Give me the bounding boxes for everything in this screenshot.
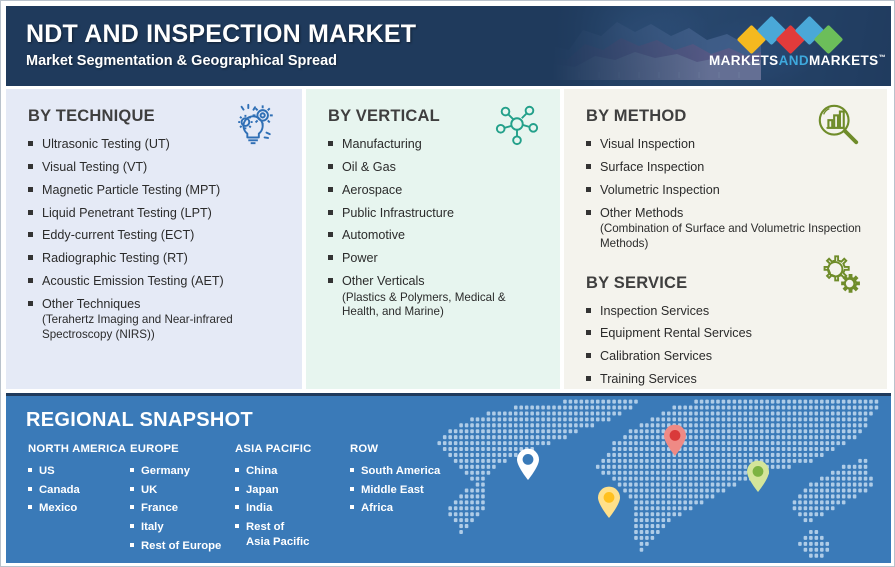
item-label: Automotive bbox=[342, 228, 405, 242]
item-label: Other Techniques bbox=[42, 297, 140, 311]
item-sublabel: (Plastics & Polymers, Medical & Health, … bbox=[342, 291, 544, 321]
list-item: South America bbox=[350, 464, 460, 479]
item-label: Volumetric Inspection bbox=[600, 183, 720, 197]
list-item: Equipment Rental Services bbox=[586, 325, 871, 341]
region-asia-pacific: ASIA PACIFIC China Japan India Rest of A… bbox=[235, 443, 350, 557]
bullet-icon bbox=[28, 301, 33, 306]
bullet-icon bbox=[350, 487, 354, 491]
bullet-icon bbox=[28, 487, 32, 491]
bullet-icon bbox=[28, 164, 33, 169]
list-item: Germany bbox=[130, 464, 235, 479]
list-item: US bbox=[28, 464, 130, 479]
item-label: Other Methods bbox=[600, 206, 683, 220]
region-country-list: China Japan India Rest of Asia Pacific bbox=[235, 464, 350, 549]
region-country-list: US Canada Mexico bbox=[28, 464, 130, 516]
bullet-icon bbox=[28, 141, 33, 146]
bullet-icon bbox=[328, 164, 333, 169]
item-label: Japan bbox=[246, 484, 279, 496]
list-item: India bbox=[235, 501, 350, 516]
list-item: Radiographic Testing (RT) bbox=[28, 250, 286, 266]
bullet-icon bbox=[328, 141, 333, 146]
bullet-icon bbox=[235, 487, 239, 491]
list-item: Magnetic Particle Testing (MPT) bbox=[28, 182, 286, 198]
item-label: Equipment Rental Services bbox=[600, 326, 752, 340]
bullet-icon bbox=[328, 187, 333, 192]
list-item: Other Verticals(Plastics & Polymers, Med… bbox=[328, 273, 544, 320]
brand-logo[interactable]: MARKETSANDMARKETS™ bbox=[709, 20, 869, 74]
list-item: Eddy-current Testing (ECT) bbox=[28, 227, 286, 243]
bullet-icon bbox=[328, 278, 333, 283]
list-item: Volumetric Inspection bbox=[586, 182, 871, 198]
bullet-icon bbox=[130, 468, 134, 472]
list-item: Aerospace bbox=[328, 182, 544, 198]
list-item: Africa bbox=[350, 501, 460, 516]
list-item: Calibration Services bbox=[586, 348, 871, 364]
bullet-icon bbox=[28, 210, 33, 215]
list-item: Automotive bbox=[328, 227, 544, 243]
list-item: Visual Testing (VT) bbox=[28, 159, 286, 175]
regional-snapshot-section: REGIONAL SNAPSHOT NORTH AMERICA US Canad… bbox=[6, 393, 891, 563]
item-label: Surface Inspection bbox=[600, 160, 704, 174]
bullet-icon bbox=[130, 487, 134, 491]
list-item: Mexico bbox=[28, 501, 130, 516]
section-divider bbox=[6, 393, 891, 396]
list-item: Japan bbox=[235, 483, 350, 498]
list-item: Inspection Services bbox=[586, 303, 871, 319]
item-label: Mexico bbox=[39, 502, 77, 514]
bullet-icon bbox=[130, 524, 134, 528]
item-label: Public Infrastructure bbox=[342, 206, 454, 220]
bullet-icon bbox=[586, 308, 591, 313]
item-label: Middle East bbox=[361, 484, 424, 496]
column-by-vertical: BY VERTICAL Manufacturing Oil & Gas Aero… bbox=[306, 89, 560, 389]
map-pin-africa[interactable] bbox=[596, 485, 622, 519]
list-by-service: Inspection Services Equipment Rental Ser… bbox=[586, 303, 871, 388]
item-label: Training Services bbox=[600, 372, 697, 386]
logo-trademark: ™ bbox=[879, 55, 886, 62]
item-label: UK bbox=[141, 484, 157, 496]
item-label: India bbox=[246, 502, 272, 514]
item-sublabel: (Combination of Surface and Volumetric I… bbox=[600, 222, 871, 252]
bullet-icon bbox=[586, 330, 591, 335]
regions-group: NORTH AMERICA US Canada Mexico EUROPE Ge… bbox=[28, 443, 460, 557]
bullet-icon bbox=[586, 376, 591, 381]
item-label: Other Verticals bbox=[342, 274, 425, 288]
item-label: Calibration Services bbox=[600, 349, 712, 363]
list-item: Rest of Asia Pacific bbox=[235, 520, 350, 549]
list-item: Manufacturing bbox=[328, 136, 544, 152]
item-label: South America bbox=[361, 465, 440, 477]
list-item: Italy bbox=[130, 520, 235, 535]
bullet-icon bbox=[328, 255, 333, 260]
item-label: Oil & Gas bbox=[342, 160, 396, 174]
header: NDT AND INSPECTION MARKET Market Segment… bbox=[6, 6, 891, 86]
bullet-icon bbox=[235, 468, 239, 472]
map-pin-layer bbox=[415, 399, 885, 559]
item-label: Manufacturing bbox=[342, 137, 422, 151]
bullet-icon bbox=[130, 505, 134, 509]
region-north-america: NORTH AMERICA US Canada Mexico bbox=[28, 443, 130, 557]
logo-word-and: AND bbox=[779, 53, 809, 68]
item-label: Visual Inspection bbox=[600, 137, 695, 151]
region-name: EUROPE bbox=[130, 443, 235, 455]
item-label: Radiographic Testing (RT) bbox=[42, 251, 188, 265]
bullet-icon bbox=[235, 524, 239, 528]
column-by-method-service: BY METHOD Visual Inspection Surface Insp… bbox=[564, 89, 887, 389]
list-item: Visual Inspection bbox=[586, 136, 871, 152]
header-title-group: NDT AND INSPECTION MARKET Market Segment… bbox=[26, 20, 416, 69]
region-name: NORTH AMERICA bbox=[28, 443, 130, 455]
list-item: Acoustic Emission Testing (AET) bbox=[28, 273, 286, 289]
list-item: UK bbox=[130, 483, 235, 498]
page-subtitle: Market Segmentation & Geographical Sprea… bbox=[26, 53, 416, 69]
item-label: Ultrasonic Testing (UT) bbox=[42, 137, 170, 151]
bullet-icon bbox=[586, 187, 591, 192]
list-item: Other Techniques(Terahertz Imaging and N… bbox=[28, 296, 286, 343]
list-item: China bbox=[235, 464, 350, 479]
bullet-icon bbox=[350, 468, 354, 472]
bullet-icon bbox=[586, 141, 591, 146]
item-label: Rest of Asia Pacific bbox=[246, 521, 309, 548]
list-item: Middle East bbox=[350, 483, 460, 498]
item-label: Acoustic Emission Testing (AET) bbox=[42, 274, 224, 288]
gears-icon bbox=[817, 251, 863, 297]
region-name: ASIA PACIFIC bbox=[235, 443, 350, 455]
list-item: France bbox=[130, 501, 235, 516]
item-label: Inspection Services bbox=[600, 304, 709, 318]
bullet-icon bbox=[130, 543, 134, 547]
list-item: Power bbox=[328, 250, 544, 266]
region-row: ROW South America Middle East Africa bbox=[350, 443, 460, 557]
bullet-icon bbox=[28, 232, 33, 237]
bullet-icon bbox=[586, 210, 591, 215]
bullet-icon bbox=[586, 164, 591, 169]
bullet-icon bbox=[328, 210, 333, 215]
list-item: Surface Inspection bbox=[586, 159, 871, 175]
list-item: Other Methods(Combination of Surface and… bbox=[586, 205, 871, 252]
item-sublabel: (Terahertz Imaging and Near-infrared Spe… bbox=[42, 313, 286, 343]
logo-diamonds bbox=[723, 20, 855, 50]
logo-wordmark: MARKETSANDMARKETS™ bbox=[709, 53, 869, 68]
list-item: Ultrasonic Testing (UT) bbox=[28, 136, 286, 152]
item-label: Magnetic Particle Testing (MPT) bbox=[42, 183, 220, 197]
logo-word-markets-2: MARKETS bbox=[809, 53, 879, 68]
list-by-method: Visual Inspection Surface Inspection Vol… bbox=[586, 136, 871, 252]
item-label: US bbox=[39, 465, 55, 477]
item-label: Eddy-current Testing (ECT) bbox=[42, 228, 194, 242]
map-pin-europe[interactable] bbox=[662, 423, 688, 457]
bullet-icon bbox=[28, 505, 32, 509]
item-label: Visual Testing (VT) bbox=[42, 160, 147, 174]
item-label: France bbox=[141, 502, 178, 514]
list-by-vertical: Manufacturing Oil & Gas Aerospace Public… bbox=[328, 136, 544, 320]
item-label: Africa bbox=[361, 502, 393, 514]
list-item: Public Infrastructure bbox=[328, 205, 544, 221]
item-label: Power bbox=[342, 251, 378, 265]
list-item: Oil & Gas bbox=[328, 159, 544, 175]
bullet-icon bbox=[350, 505, 354, 509]
bullet-icon bbox=[28, 187, 33, 192]
bullet-icon bbox=[28, 255, 33, 260]
item-label: Liquid Penetrant Testing (LPT) bbox=[42, 206, 212, 220]
item-label: China bbox=[246, 465, 277, 477]
item-label: Canada bbox=[39, 484, 80, 496]
list-item: Training Services bbox=[586, 371, 871, 387]
list-item: Canada bbox=[28, 483, 130, 498]
logo-word-markets-1: MARKETS bbox=[709, 53, 779, 68]
map-pin-asia-pacific[interactable] bbox=[745, 459, 771, 493]
region-name: ROW bbox=[350, 443, 460, 455]
infographic-root: NDT AND INSPECTION MARKET Market Segment… bbox=[0, 0, 895, 567]
column-by-technique: BY TECHNIQUE Ultrasonic Testing (UT) bbox=[6, 89, 302, 389]
item-label: Germany bbox=[141, 465, 190, 477]
bullet-icon bbox=[235, 505, 239, 509]
bullet-icon bbox=[28, 278, 33, 283]
region-country-list: Germany UK France Italy Rest of Europe bbox=[130, 464, 235, 553]
region-country-list: South America Middle East Africa bbox=[350, 464, 460, 516]
list-item: Rest of Europe bbox=[130, 539, 235, 554]
segmentation-columns: BY TECHNIQUE Ultrasonic Testing (UT) bbox=[6, 89, 891, 389]
item-label: Rest of Europe bbox=[141, 540, 221, 552]
region-europe: EUROPE Germany UK France Italy Rest of E… bbox=[130, 443, 235, 557]
page-title: NDT AND INSPECTION MARKET bbox=[26, 20, 416, 48]
bullet-icon bbox=[28, 468, 32, 472]
list-by-technique: Ultrasonic Testing (UT) Visual Testing (… bbox=[28, 136, 286, 343]
map-pin-north-america[interactable] bbox=[515, 447, 541, 481]
list-item: Liquid Penetrant Testing (LPT) bbox=[28, 205, 286, 221]
bullet-icon bbox=[586, 353, 591, 358]
regional-snapshot-title: REGIONAL SNAPSHOT bbox=[26, 409, 253, 432]
item-label: Italy bbox=[141, 521, 164, 533]
bullet-icon bbox=[328, 232, 333, 237]
item-label: Aerospace bbox=[342, 183, 402, 197]
